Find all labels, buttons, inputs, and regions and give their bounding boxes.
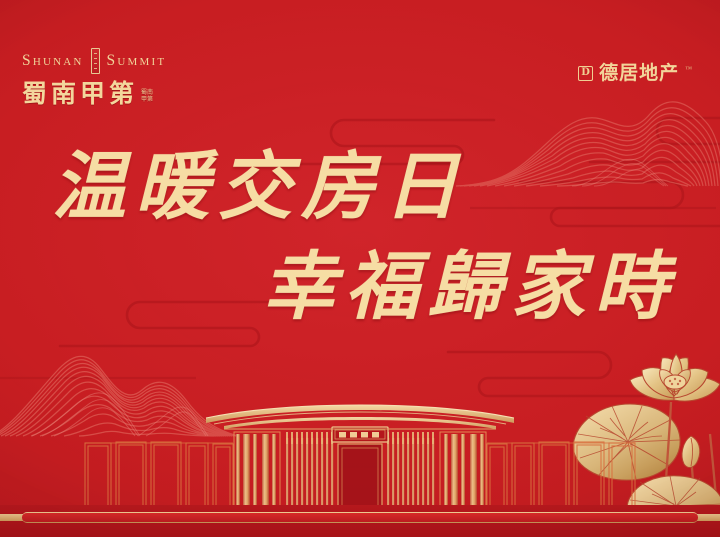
band-rail-inner <box>22 512 698 523</box>
poster-canvas: Shunan Summit 蜀南甲第 蜀南 甲第 D 德居地产 ™ 温暖交房日 … <box>0 0 720 537</box>
trademark-symbol: ™ <box>685 65 692 73</box>
brand-chinese-sub: 蜀南 甲第 <box>141 90 153 106</box>
bottom-band <box>0 505 720 537</box>
brand-chinese-lockup: 蜀南甲第 蜀南 甲第 <box>22 81 212 106</box>
headline-block: 温暖交房日 幸福歸家時 <box>0 150 720 324</box>
brand-english-word-2: Summit <box>107 52 167 70</box>
headline-line-1: 温暖交房日 <box>52 150 720 224</box>
vertical-seal-icon <box>91 48 100 74</box>
headline-line-2: 幸福歸家時 <box>262 250 720 324</box>
developer-logo-right[interactable]: D 德居地产 ™ <box>578 64 692 83</box>
brand-english-word-1: Shunan <box>22 52 84 70</box>
developer-mark-icon: D <box>578 66 593 81</box>
brand-english-lockup: Shunan Summit <box>22 48 212 74</box>
brand-chinese-name: 蜀南甲第 <box>22 81 138 106</box>
developer-chinese-name: 德居地产 <box>599 64 679 83</box>
brand-logo-left[interactable]: Shunan Summit 蜀南甲第 蜀南 甲第 <box>22 48 212 106</box>
